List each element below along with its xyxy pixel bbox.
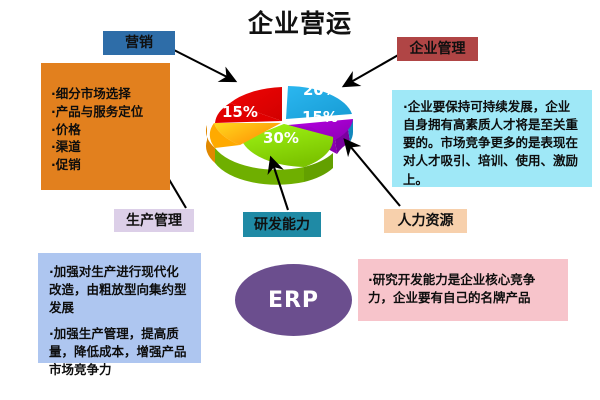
label-hr[interactable]: 人力资源 (384, 209, 467, 233)
marketing-item-3: ·渠道 (51, 138, 170, 156)
diagram-canvas: 企业营运 (0, 0, 600, 400)
panel-production-details: ·加强对生产进行现代化改造，由粗放型向集约型发展 ·加强生产管理，提高质量，降低… (38, 253, 201, 363)
panel-hr-details: ·企业要保持可持续发展，企业自身拥有高素质人才将是至关重要的。市场竞争更多的是表… (392, 90, 592, 187)
label-ent-management[interactable]: 企业管理 (397, 37, 478, 61)
page-title: 企业营运 (215, 4, 385, 40)
pie-label-hr: 15% (302, 108, 338, 126)
pie-label-ent-management: 20% (303, 81, 339, 99)
production-detail-text-2: ·加强生产管理，提高质量，降低成本，增强产品市场竞争力 (49, 325, 191, 378)
marketing-item-0: ·细分市场选择 (51, 85, 170, 103)
marketing-item-1: ·产品与服务定位 (51, 103, 170, 121)
label-marketing[interactable]: 营销 (103, 31, 175, 55)
pie-label-marketing: 20% (248, 69, 284, 87)
label-rnd[interactable]: 研发能力 (243, 212, 321, 237)
pie-label-production: 15% (222, 103, 258, 121)
marketing-item-2: ·价格 (51, 121, 170, 139)
pie-label-rnd: 30% (263, 129, 299, 147)
panel-marketing-details: ·细分市场选择 ·产品与服务定位 ·价格 ·渠道 ·促销 (41, 63, 170, 190)
erp-node[interactable]: ERP (235, 264, 352, 336)
hr-detail-text: ·企业要保持可持续发展，企业自身拥有高素质人才将是至关重要的。市场竞争更多的是表… (403, 98, 578, 189)
label-production[interactable]: 生产管理 (114, 209, 194, 232)
rnd-detail-text: ·研究开发能力是企业核心竞争力，企业要有自己的名牌产品 (368, 271, 558, 307)
pie-chart: 20% 20% 15% 30% 15% (185, 45, 380, 210)
marketing-item-4: ·促销 (51, 156, 170, 174)
production-detail-text-1: ·加强对生产进行现代化改造，由粗放型向集约型发展 (49, 263, 191, 316)
panel-rnd-details: ·研究开发能力是企业核心竞争力，企业要有自己的名牌产品 (358, 259, 568, 321)
